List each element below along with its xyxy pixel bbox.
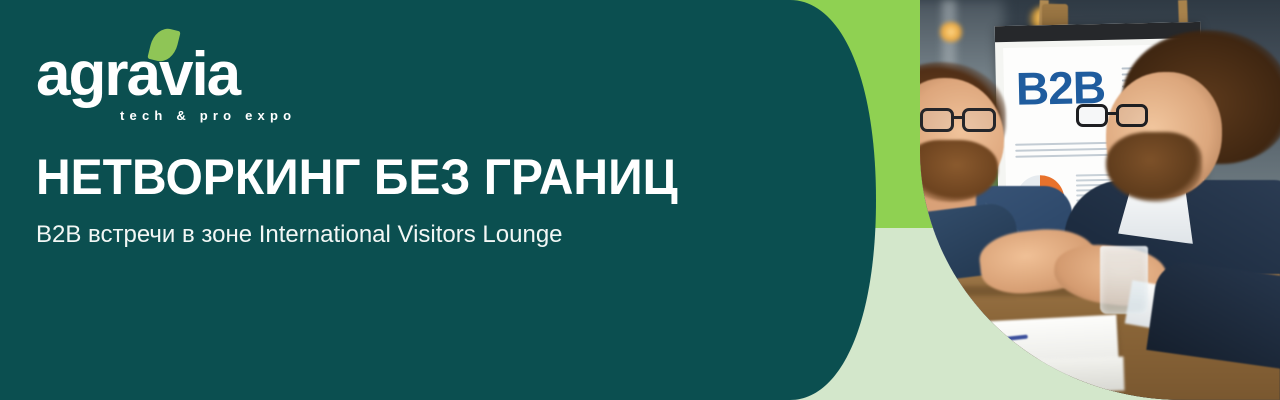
promo-banner: B2B xyxy=(0,0,1280,400)
person-right-beard xyxy=(1106,132,1202,202)
water-glass-back xyxy=(1100,246,1148,314)
logo-tagline: tech & pro expo xyxy=(120,108,296,123)
agravia-logo[interactable]: agravia tech & pro expo xyxy=(36,44,296,123)
person-right-sleeve xyxy=(1146,259,1280,370)
page-title: НЕТВОРКИНГ БЕЗ ГРАНИЦ xyxy=(36,152,678,202)
lamp-icon xyxy=(938,22,964,42)
glasses-icon-right xyxy=(1076,104,1152,128)
page-subtitle: B2B встречи в зоне International Visitor… xyxy=(36,221,563,250)
glasses-icon-left xyxy=(920,108,998,132)
